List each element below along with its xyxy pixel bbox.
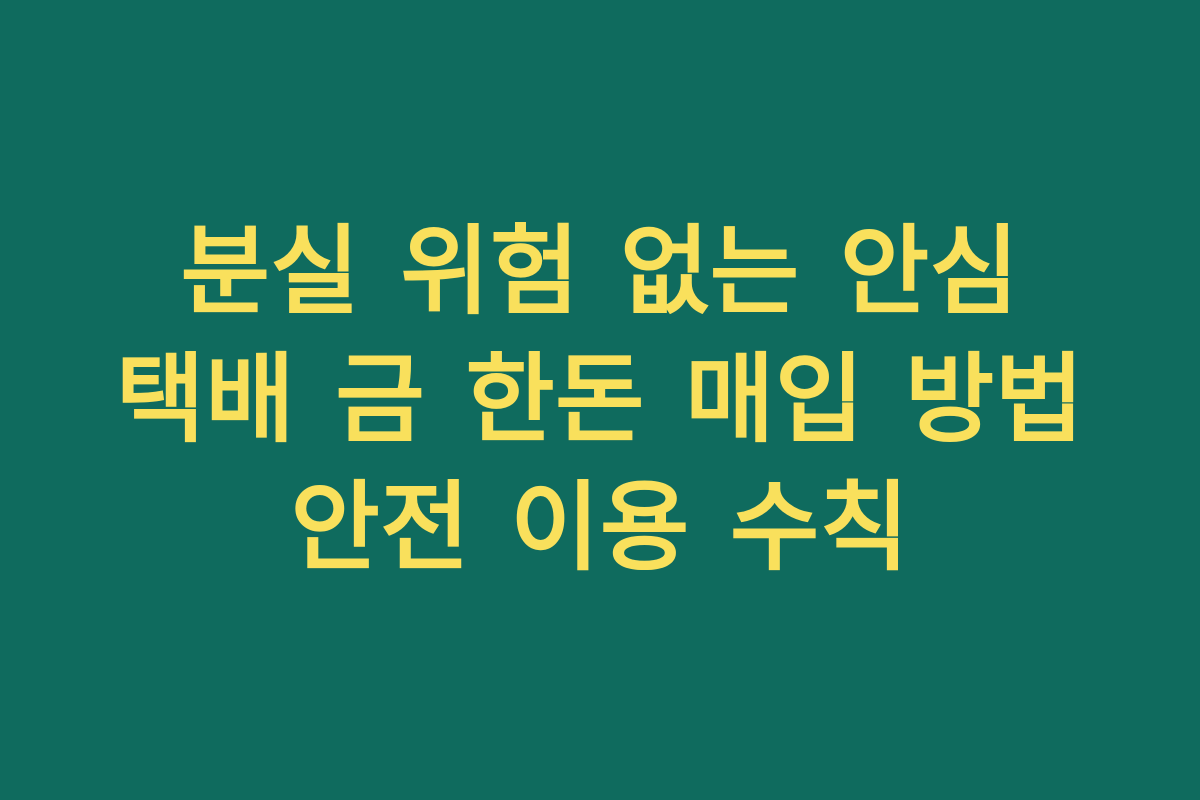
page-title: 분실 위험 없는 안심 택배 금 한돈 매입 방법 안전 이용 수칙	[110, 208, 1090, 592]
title-card: 분실 위험 없는 안심 택배 금 한돈 매입 방법 안전 이용 수칙	[0, 0, 1200, 800]
headline-container: 분실 위험 없는 안심 택배 금 한돈 매입 방법 안전 이용 수칙	[100, 208, 1100, 592]
